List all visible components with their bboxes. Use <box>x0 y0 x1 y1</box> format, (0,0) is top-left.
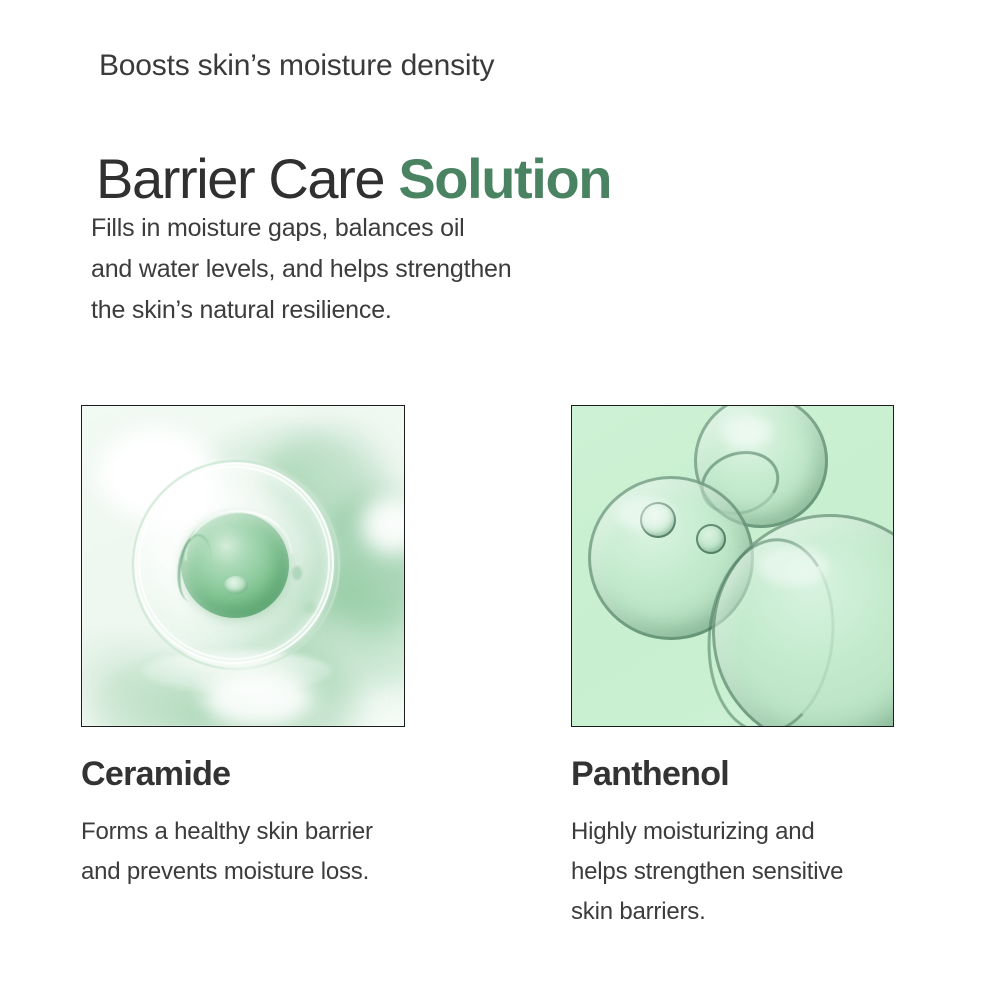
page-title: Barrier Care Solution <box>96 146 611 211</box>
ceramide-inner-droplet <box>224 576 248 594</box>
intro-line: the skin’s natural resilience. <box>91 290 511 331</box>
ingredient-card-panthenol: Panthenol Highly moisturizing and helps … <box>571 405 894 932</box>
ceramide-desc-line: Forms a healthy skin barrier <box>81 812 405 852</box>
ceramide-highlight <box>202 668 312 727</box>
ceramide-description: Forms a healthy skin barrier and prevent… <box>81 812 405 892</box>
ceramide-speck <box>292 566 302 580</box>
panthenol-title: Panthenol <box>571 755 894 794</box>
ceramide-image <box>81 405 405 727</box>
panthenol-sheen <box>758 546 828 586</box>
intro-line: and water levels, and helps strengthen <box>91 249 511 290</box>
panthenol-desc-line: helps strengthen sensitive <box>571 852 894 892</box>
panthenol-sheen <box>616 498 674 530</box>
panthenol-desc-line: Highly moisturizing and <box>571 812 894 852</box>
intro-paragraph: Fills in moisture gaps, balances oil and… <box>91 208 511 331</box>
ceramide-speck <box>304 602 316 614</box>
panthenol-sheen <box>720 414 772 448</box>
ingredient-card-ceramide: Ceramide Forms a healthy skin barrier an… <box>81 405 405 892</box>
ceramide-desc-line: and prevents moisture loss. <box>81 852 405 892</box>
intro-line: Fills in moisture gaps, balances oil <box>91 208 511 249</box>
panthenol-desc-line: skin barriers. <box>571 892 894 932</box>
product-detail-page: Boosts skin’s moisture density Barrier C… <box>0 0 1000 1000</box>
eyebrow-text: Boosts skin’s moisture density <box>99 49 494 83</box>
page-title-main: Barrier Care <box>96 147 398 210</box>
ceramide-title: Ceramide <box>81 755 405 794</box>
page-title-accent: Solution <box>398 147 611 210</box>
panthenol-description: Highly moisturizing and helps strengthen… <box>571 812 894 932</box>
panthenol-image <box>571 405 894 727</box>
panthenol-bubble-small <box>696 524 726 554</box>
